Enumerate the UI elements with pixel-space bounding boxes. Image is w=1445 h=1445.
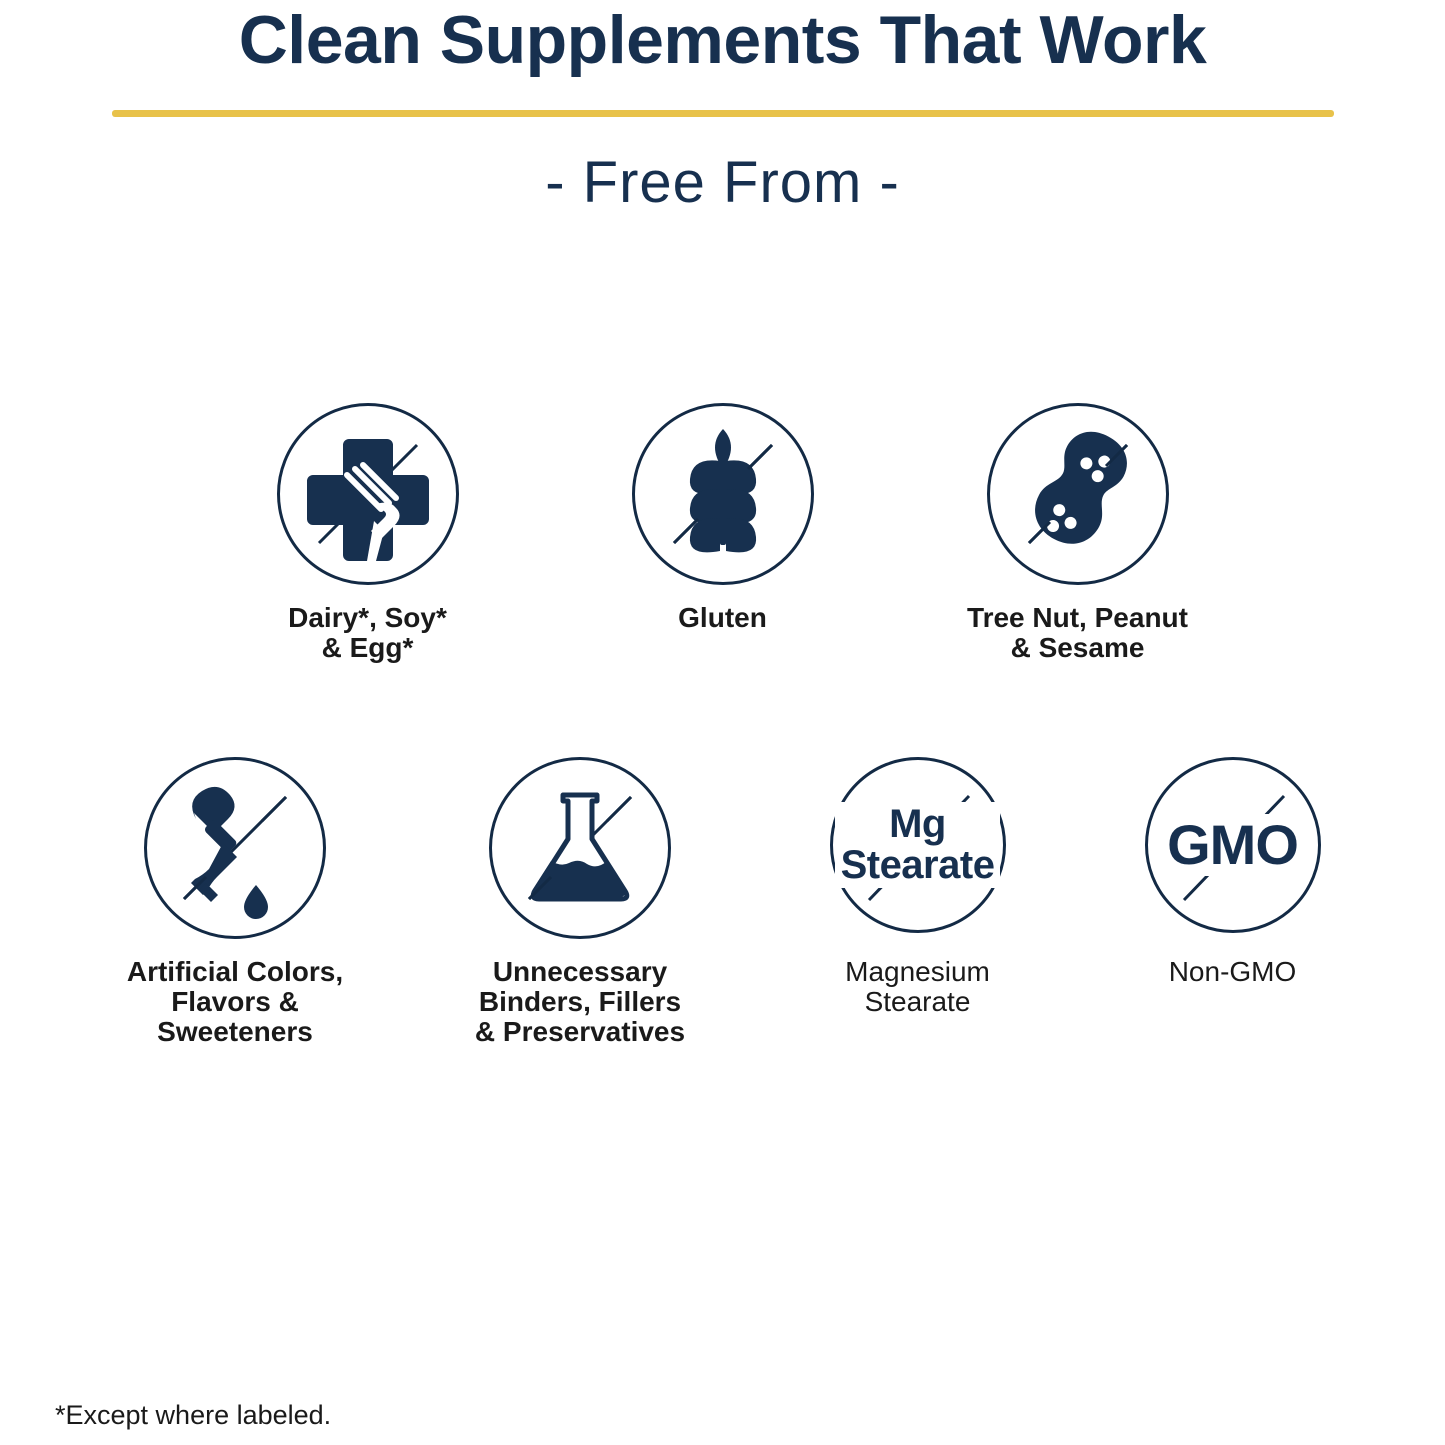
no-cross-fork-icon [277, 403, 459, 585]
page-subtitle: - Free From - [0, 149, 1445, 216]
free-from-item-non-gmo: GMO Non-GMO [1083, 757, 1383, 1048]
no-flask-icon [489, 757, 671, 939]
no-peanut-badge [987, 403, 1169, 585]
no-peanut-icon [987, 403, 1169, 585]
no-cross-fork-badge [277, 403, 459, 585]
no-wheat-badge [632, 403, 814, 585]
free-from-item-magnesium-stearate: Mg Stearate Magnesium Stearate [753, 757, 1083, 1048]
free-from-item-artificial-colors: Artificial Colors, Flavors & Sweeteners [63, 757, 408, 1048]
free-from-label-non-gmo: Non-GMO [1169, 957, 1297, 987]
mg-stearate-text: Mg Stearate [835, 802, 1001, 888]
free-from-label-artificial-colors: Artificial Colors, Flavors & Sweeteners [127, 957, 343, 1048]
icon-row-2: Artificial Colors, Flavors & Sweeteners … [0, 757, 1445, 1048]
gold-divider [112, 110, 1334, 117]
free-from-item-unnecessary-binders: Unnecessary Binders, Fillers & Preservat… [408, 757, 753, 1048]
free-from-label-gluten: Gluten [678, 603, 767, 633]
free-from-item-gluten: Gluten [545, 403, 900, 663]
no-dropper-icon [144, 757, 326, 939]
icon-row-1: Dairy*, Soy* & Egg* [0, 403, 1445, 663]
free-from-label-dairy-soy-egg: Dairy*, Soy* & Egg* [288, 603, 447, 663]
free-from-item-dairy-soy-egg: Dairy*, Soy* & Egg* [190, 403, 545, 663]
free-from-label-magnesium-stearate: Magnesium Stearate [845, 957, 990, 1017]
free-from-infographic: Clean Supplements That Work - Free From … [0, 0, 1445, 1445]
page-title: Clean Supplements That Work [0, 0, 1445, 74]
gmo-text: GMO [1161, 814, 1304, 875]
free-from-label-tree-nut-peanut-sesame: Tree Nut, Peanut & Sesame [967, 603, 1188, 663]
header: Clean Supplements That Work - Free From … [0, 0, 1445, 216]
no-flask-badge [489, 757, 671, 939]
no-mg-stearate-badge: Mg Stearate [830, 757, 1006, 933]
free-from-item-tree-nut-peanut-sesame: Tree Nut, Peanut & Sesame [900, 403, 1255, 663]
no-gmo-badge: GMO [1145, 757, 1321, 933]
footnote: *Except where labeled. [55, 1400, 331, 1431]
no-wheat-icon [632, 403, 814, 585]
no-dropper-badge [144, 757, 326, 939]
free-from-label-unnecessary-binders: Unnecessary Binders, Fillers & Preservat… [475, 957, 685, 1048]
